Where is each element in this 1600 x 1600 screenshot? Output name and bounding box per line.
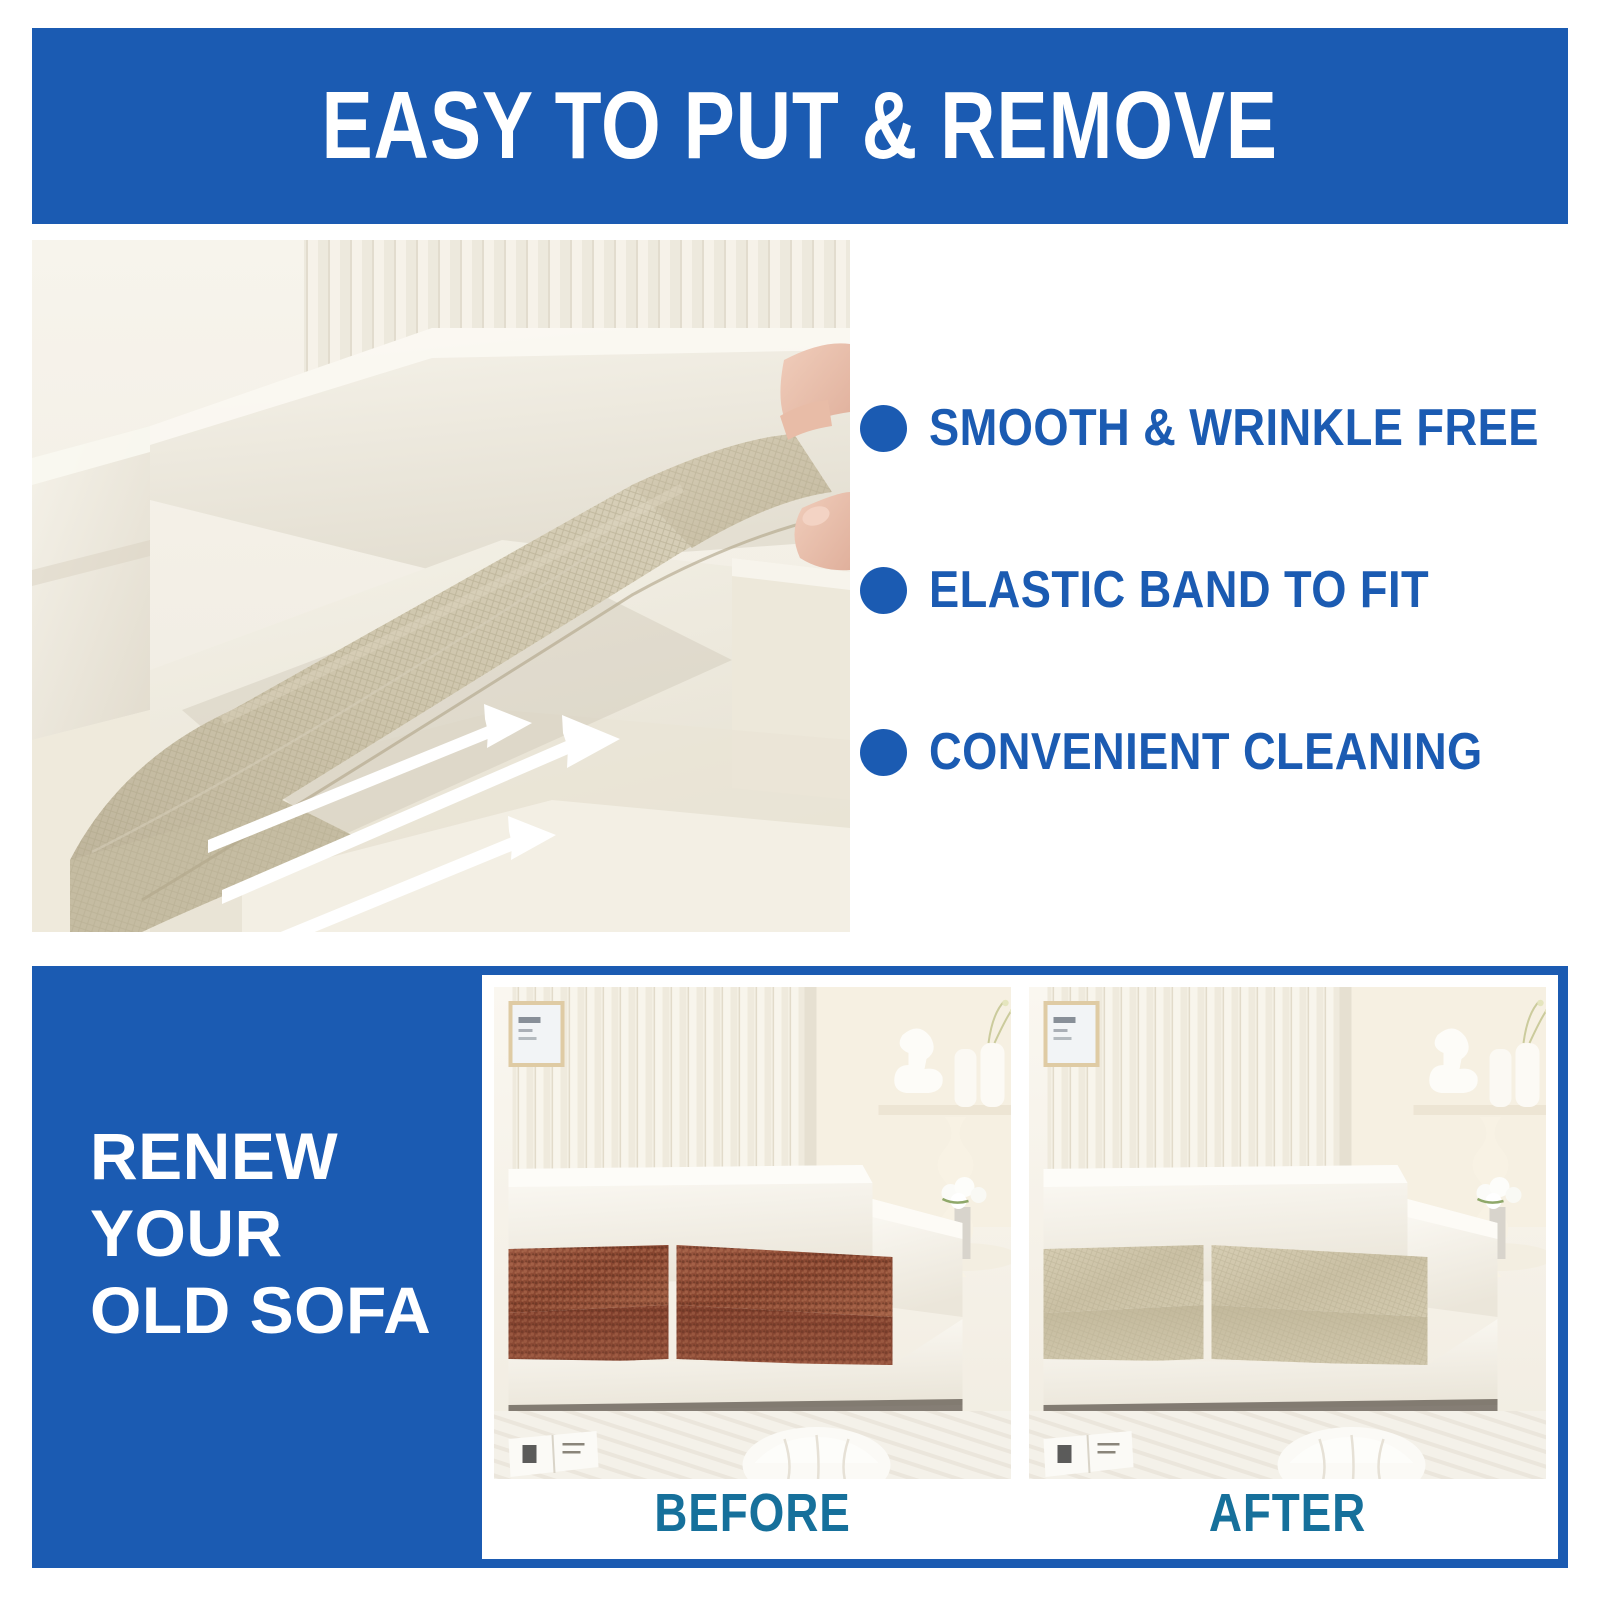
- feature-label: SMOOTH & WRINKLE FREE: [929, 402, 1539, 454]
- feature-label: CONVENIENT CLEANING: [929, 726, 1483, 778]
- comparison-column-before: BEFORE: [494, 987, 1011, 1547]
- feature-label: ELASTIC BAND TO FIT: [929, 564, 1429, 616]
- bullet-dot-icon: [860, 729, 907, 776]
- before-photo-illustration: [494, 987, 1011, 1479]
- top-section: SMOOTH & WRINKLE FREE ELASTIC BAND TO FI…: [32, 240, 1568, 932]
- beige-covered-cushions: [1044, 1245, 1428, 1367]
- feature-item-convenient-cleaning: CONVENIENT CLEANING: [860, 726, 1568, 778]
- feature-list: SMOOTH & WRINKLE FREE ELASTIC BAND TO FI…: [860, 240, 1568, 932]
- feature-item-elastic-band: ELASTIC BAND TO FIT: [860, 564, 1568, 616]
- header-banner: EASY TO PUT & REMOVE: [32, 28, 1568, 224]
- worn-brown-cushions: [509, 1245, 893, 1367]
- comparison-column-after: AFTER: [1029, 987, 1546, 1547]
- bottom-comparison-panel: RENEW YOUR OLD SOFA: [32, 966, 1568, 1568]
- sofa-before-photo: [494, 987, 1011, 1479]
- hero-product-photo: [32, 240, 850, 932]
- page-title: EASY TO PUT & REMOVE: [322, 78, 1278, 174]
- hero-photo-illustration: [32, 240, 850, 932]
- comparison-grid: BEFORE: [494, 987, 1546, 1547]
- after-photo-illustration: [1029, 987, 1546, 1479]
- framed-poster: [509, 1001, 565, 1067]
- sofa-after-photo: [1029, 987, 1546, 1479]
- renew-headline-line-1: RENEW: [90, 1118, 490, 1195]
- feature-item-smooth-wrinkle-free: SMOOTH & WRINKLE FREE: [860, 402, 1568, 454]
- framed-poster: [1044, 1001, 1100, 1067]
- renew-headline-line-2: YOUR: [90, 1195, 490, 1272]
- product-infographic: EASY TO PUT & REMOVE: [0, 0, 1600, 1600]
- after-label: AFTER: [1068, 1479, 1507, 1547]
- comparison-card: BEFORE: [482, 975, 1558, 1559]
- renew-headline-line-3: OLD SOFA: [90, 1272, 490, 1349]
- bullet-dot-icon: [860, 405, 907, 452]
- before-label: BEFORE: [533, 1479, 972, 1547]
- bullet-dot-icon: [860, 567, 907, 614]
- renew-headline: RENEW YOUR OLD SOFA: [90, 1118, 490, 1350]
